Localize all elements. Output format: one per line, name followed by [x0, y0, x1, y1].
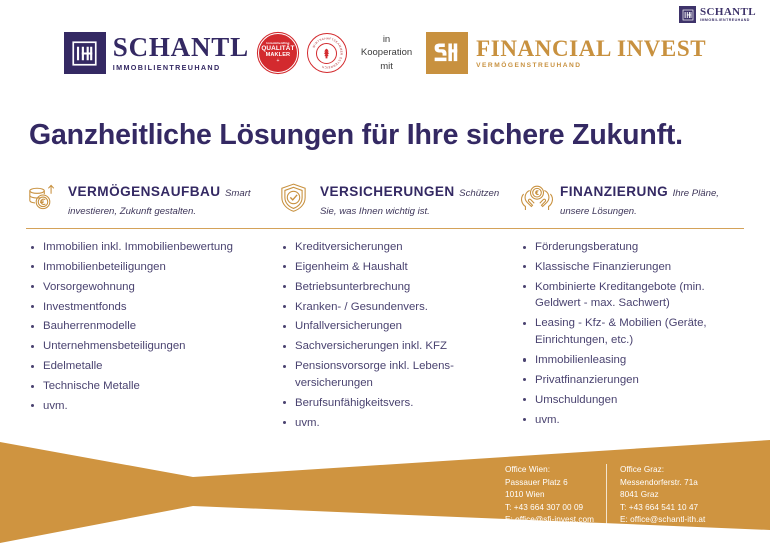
coins-euro-growth-glyph [26, 181, 60, 215]
ith-monogram-glyph [71, 40, 98, 67]
list-finanzierung: Förderungsberatung Klassische Finanzieru… [518, 239, 750, 435]
office-graz-street: Messendorferstr. 71a [620, 477, 705, 490]
office-wien-city: 1010 Wien [505, 489, 594, 502]
cooperation-line3: mit [380, 61, 393, 72]
sfi-wordmark: FINANCIAL INVEST VERMÖGENSTREUHAND [476, 37, 706, 70]
list-item: Kombinierte Kreditangebote (min. Geldwer… [535, 279, 750, 313]
list-item: Edelmetalle [43, 358, 278, 375]
category-lists: Immobilien inkl. Immobilienbewertung Imm… [26, 239, 750, 435]
list-item: Umschuldungen [535, 392, 750, 409]
list-item: Sachversicherungen inkl. KFZ [295, 338, 518, 355]
ith-monogram-icon [64, 32, 106, 74]
column-title: VERSICHERUNGEN [320, 184, 455, 199]
office-graz-heading: Office Graz: [620, 464, 705, 477]
cooperation-label: in Kooperation mit [361, 33, 412, 73]
list-item: Immobilien inkl. Immobilienbewertung [43, 239, 278, 256]
office-wien-phone[interactable]: T: +43 664 307 00 09 [505, 502, 594, 515]
bullet-list: Kreditversicherungen Eigenheim & Haushal… [278, 239, 518, 431]
list-item: Berufsunfähigkeitsvers. [295, 395, 518, 412]
list-item: Förderungsberatung [535, 239, 750, 256]
cooperation-line2: Kooperation [361, 47, 412, 58]
schantl-ith-logo: SCHANTL IMMOBILIENTREUHAND [64, 32, 249, 74]
list-item: Leasing - Kfz- & Mobilien (Geräte, Einri… [535, 315, 750, 349]
list-vermoegensaufbau: Immobilien inkl. Immobilienbewertung Imm… [26, 239, 278, 435]
wirtschaftskammer-seal-icon: WIRTSCHAFTSKAMMER ÖSTERREICH [307, 33, 347, 73]
column-header: VERMÖGENSAUFBAU Smart investieren, Zukun… [26, 180, 278, 222]
office-graz-phone[interactable]: T: +43 664 541 10 47 [620, 502, 705, 515]
sfi-monogram-icon [426, 32, 468, 74]
list-item: Betriebsunterbrechung [295, 279, 518, 296]
list-item: Pensionsvorsorge inkl. Lebens-versicheru… [295, 358, 518, 392]
qualitaetsmakler-seal-icon: ImmobilienRing QUALITÄT MAKLER + [258, 33, 298, 73]
office-graz-block: Office Graz: Messendorferstr. 71a 8041 G… [606, 464, 705, 527]
bullet-list: Förderungsberatung Klassische Finanzieru… [518, 239, 750, 428]
hands-holding-coin-glyph [518, 181, 556, 213]
ith-monogram-icon [679, 6, 696, 23]
seal-ring-text: WIRTSCHAFTSKAMMER ÖSTERREICH [308, 34, 346, 72]
shield-check-glyph [278, 181, 309, 214]
column-title-group: VERMÖGENSAUFBAU Smart investieren, Zukun… [68, 180, 278, 219]
coins-euro-growth-icon [26, 181, 60, 215]
list-item: Klassische Finanzierungen [535, 259, 750, 276]
column-title: FINANZIERUNG [560, 184, 668, 199]
section-divider [26, 228, 744, 229]
schantl-wordmark: SCHANTL IMMOBILIENTREUHAND [113, 34, 249, 71]
office-graz-city: 8041 Graz [620, 489, 705, 502]
list-item: uvm. [43, 398, 278, 415]
sfi-logo-title: FINANCIAL INVEST [476, 37, 706, 60]
list-item: Privatfinanzierungen [535, 372, 750, 389]
sfi-logo-subtitle: VERMÖGENSTREUHAND [476, 63, 706, 70]
column-header: VERSICHERUNGEN Schützen Sie, was Ihnen w… [278, 180, 518, 222]
svg-text:WIRTSCHAFTSKAMMER ÖSTERREICH: WIRTSCHAFTSKAMMER ÖSTERREICH [312, 36, 344, 69]
list-item: Kreditversicherungen [295, 239, 518, 256]
list-item: Vorsorgewohnung [43, 279, 278, 296]
ith-monogram-glyph [682, 9, 694, 21]
list-item: Immobilienbeteiligungen [43, 259, 278, 276]
list-item: Immobilienleasing [535, 352, 750, 369]
office-graz-email[interactable]: E: office@schantl-ith.at [620, 514, 705, 527]
column-header: FINANZIERUNG Ihre Pläne, unsere Lösungen… [518, 180, 750, 222]
list-item: Investmentfonds [43, 299, 278, 316]
list-item: Kranken- / Gesundenvers. [295, 299, 518, 316]
office-wien-block: Office Wien: Passauer Platz 6 1010 Wien … [505, 464, 606, 527]
column-versicherungen: VERSICHERUNGEN Schützen Sie, was Ihnen w… [278, 180, 518, 222]
seal-red-line4: + [276, 59, 279, 64]
column-vermoegensaufbau: VERMÖGENSAUFBAU Smart investieren, Zukun… [26, 180, 278, 222]
office-wien-heading: Office Wien: [505, 464, 594, 477]
corner-logo-wordmark: SCHANTL IMMOBILIENTREUHAND [700, 7, 756, 23]
poster-page: SCHANTL IMMOBILIENTREUHAND SCHANTL IMMOB… [0, 0, 770, 543]
schantl-logo-subtitle: IMMOBILIENTREUHAND [113, 64, 249, 71]
header-logo-band: SCHANTL IMMOBILIENTREUHAND ImmobilienRin… [0, 32, 770, 74]
corner-logo-subtitle: IMMOBILIENTREUHAND [700, 19, 756, 23]
sfi-financial-invest-logo: FINANCIAL INVEST VERMÖGENSTREUHAND [426, 32, 706, 74]
page-title: Ganzheitliche Lösungen für Ihre sichere … [29, 119, 683, 152]
schantl-logo-title: SCHANTL [113, 34, 249, 61]
list-item: Eigenheim & Haushalt [295, 259, 518, 276]
sfi-monogram-glyph [432, 40, 462, 66]
footer-contacts: Office Wien: Passauer Platz 6 1010 Wien … [505, 464, 705, 527]
shield-check-icon [278, 181, 312, 215]
column-title-group: VERSICHERUNGEN Schützen Sie, was Ihnen w… [320, 180, 518, 219]
bullet-list: Immobilien inkl. Immobilienbewertung Imm… [26, 239, 278, 415]
list-item: Bauherrenmodelle [43, 318, 278, 335]
corner-brand-logo: SCHANTL IMMOBILIENTREUHAND [679, 6, 756, 23]
category-headers: VERMÖGENSAUFBAU Smart investieren, Zukun… [26, 180, 750, 222]
list-item: Technische Metalle [43, 378, 278, 395]
list-item: Unfallversicherungen [295, 318, 518, 335]
column-finanzierung: FINANZIERUNG Ihre Pläne, unsere Lösungen… [518, 180, 750, 222]
office-wien-email[interactable]: E: office@sfi-invest.com [505, 514, 594, 527]
hands-holding-coin-icon [518, 181, 552, 215]
column-title: VERMÖGENSAUFBAU [68, 184, 221, 199]
office-wien-street: Passauer Platz 6 [505, 477, 594, 490]
cooperation-line1: in [383, 34, 390, 45]
list-versicherungen: Kreditversicherungen Eigenheim & Haushal… [278, 239, 518, 435]
list-item: Unternehmensbeteiligungen [43, 338, 278, 355]
corner-logo-title: SCHANTL [700, 7, 756, 18]
column-title-group: FINANZIERUNG Ihre Pläne, unsere Lösungen… [560, 180, 750, 219]
